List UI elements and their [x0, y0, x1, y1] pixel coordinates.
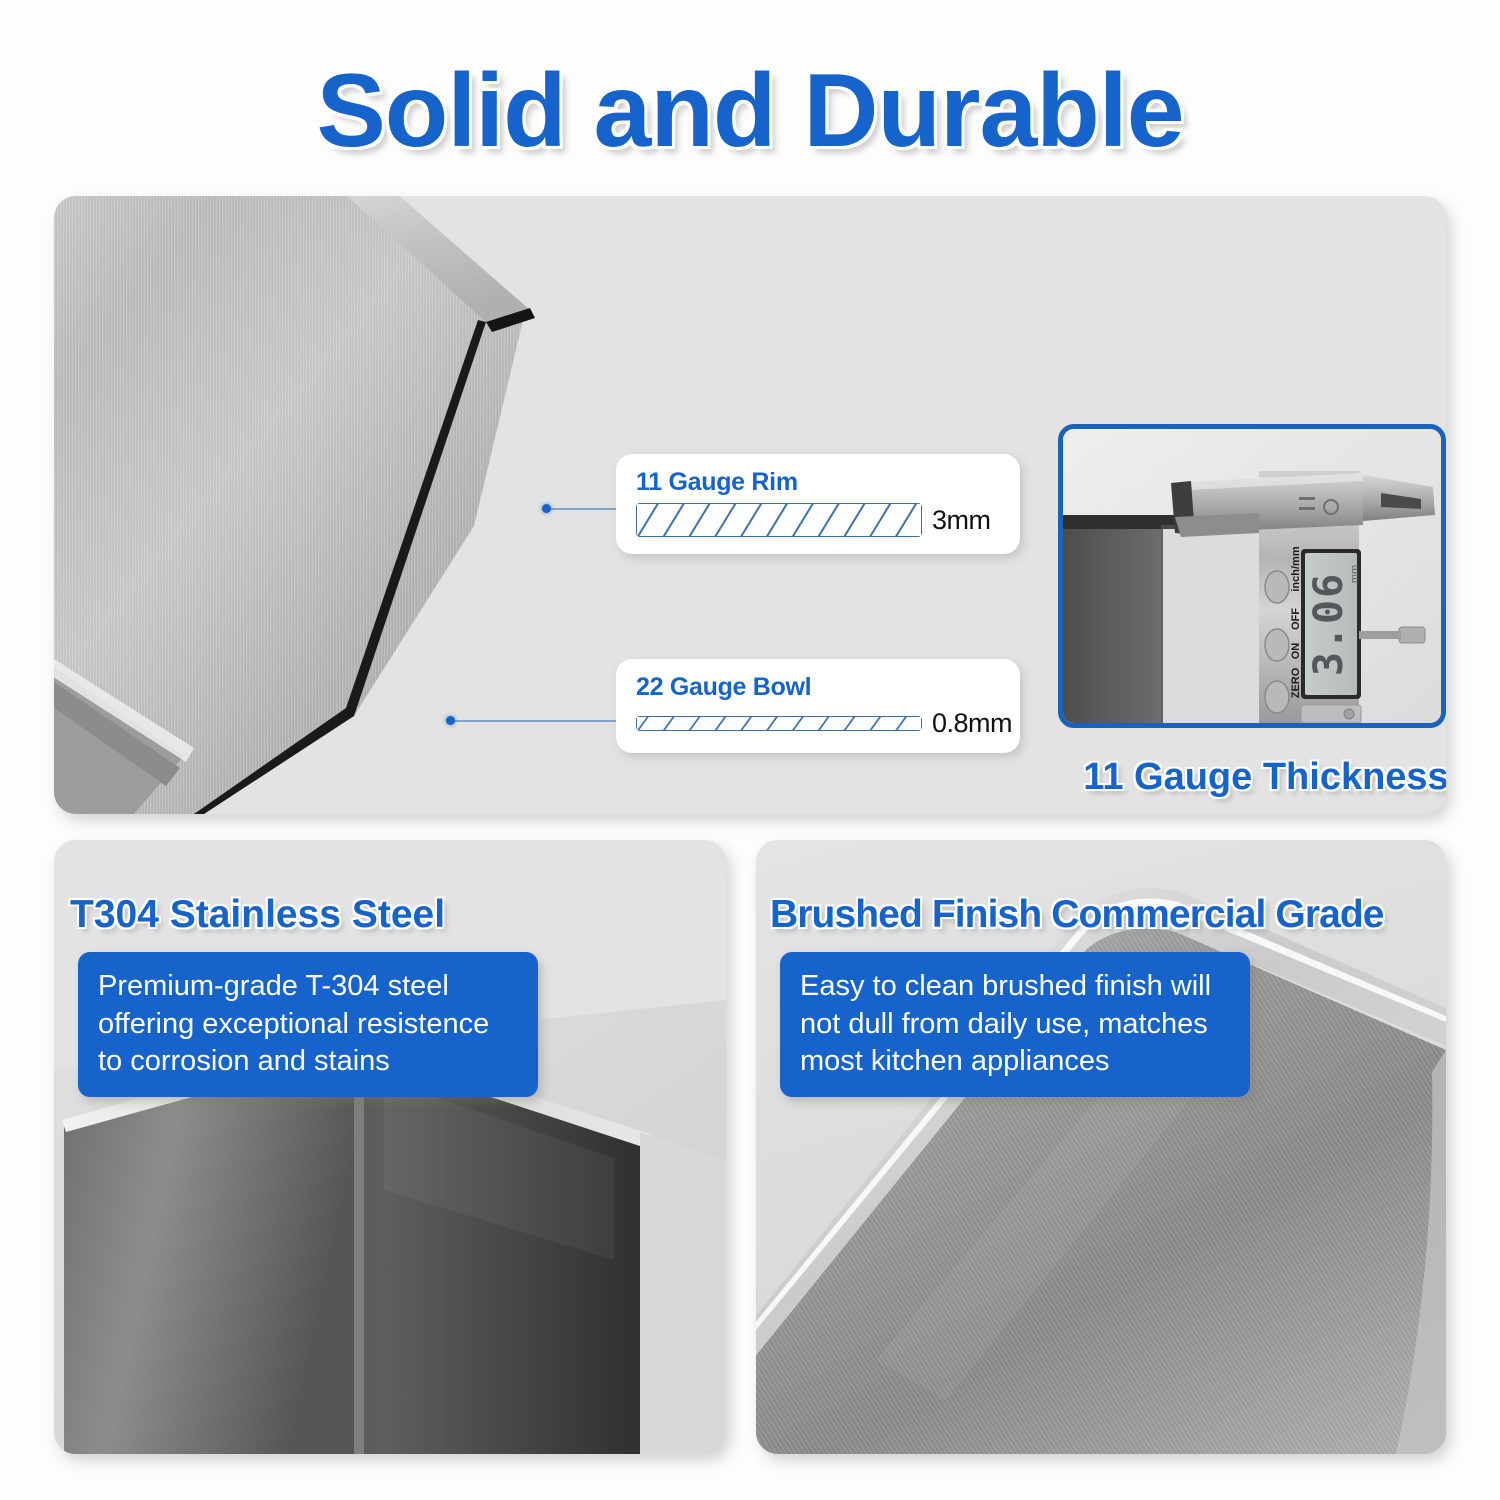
caliper-photo-panel: 3.06 mm inch/mm OFF ON ZERO	[1058, 424, 1446, 728]
callout-bowl-measure: 0.8mm	[932, 708, 1012, 739]
svg-text:3.06: 3.06	[1306, 572, 1352, 676]
t304-description: Premium-grade T-304 steel offering excep…	[78, 952, 538, 1097]
svg-text:inch/mm: inch/mm	[1290, 546, 1302, 591]
svg-text:mm: mm	[1349, 565, 1361, 583]
callout-bowl: 22 Gauge Bowl 0.8mm	[616, 659, 1020, 753]
page-title: Solid and Durable	[0, 52, 1500, 171]
thickness-heading: 11 Gauge Thickness	[1066, 756, 1446, 799]
connector-line-bowl	[452, 720, 622, 722]
callout-bowl-label: 22 Gauge Bowl	[636, 673, 1000, 702]
hatch-bar-bowl	[636, 716, 922, 731]
svg-text:OFF: OFF	[1290, 608, 1302, 630]
callout-rim-measure: 3mm	[932, 505, 991, 536]
t304-heading: T304 Stainless Steel	[70, 893, 445, 937]
infographic-stage: Solid and Durable	[0, 0, 1500, 1500]
callout-rim-label: 11 Gauge Rim	[636, 468, 1000, 497]
connector-line-rim	[548, 508, 620, 510]
svg-text:ZERO: ZERO	[1290, 667, 1302, 698]
brushed-heading: Brushed Finish Commercial Grade	[770, 893, 1384, 937]
svg-text:ON: ON	[1290, 643, 1302, 660]
connector-dot-rim	[542, 504, 551, 513]
connector-dot-bowl	[446, 716, 455, 725]
brushed-description: Easy to clean brushed finish will not du…	[780, 952, 1250, 1097]
callout-rim: 11 Gauge Rim 3mm	[616, 454, 1020, 554]
thickness-card: 11 Gauge Rim 3mm	[54, 196, 1446, 814]
hatch-bar-rim	[636, 503, 922, 537]
